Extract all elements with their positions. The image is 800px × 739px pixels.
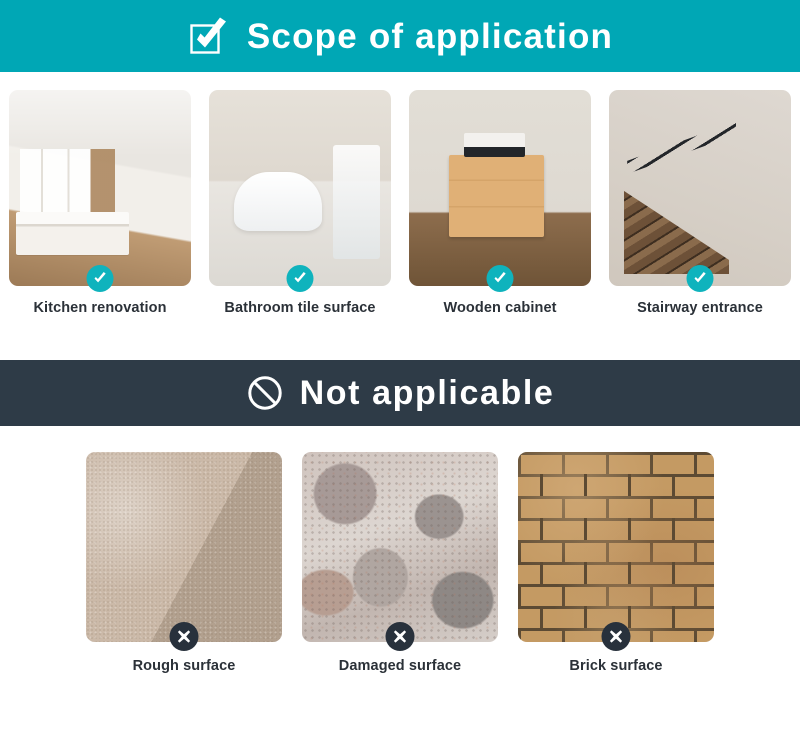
not-applicable-card-brick-label: Brick surface	[569, 658, 662, 674]
check-badge-stairway	[687, 265, 714, 292]
scope-card-stairway-thumb	[609, 90, 791, 286]
checkbox-checked-icon	[187, 14, 231, 58]
scope-banner-title: Scope of application	[247, 19, 613, 54]
scope-card-stairway[interactable]: Stairway entrance	[609, 90, 791, 316]
scope-card-bathroom-thumb	[209, 90, 391, 286]
check-badge-kitchen	[87, 265, 114, 292]
check-icon	[692, 270, 709, 287]
not-applicable-card-rough-thumb	[86, 452, 282, 642]
x-badge-rough	[170, 622, 199, 651]
not-applicable-card-damaged[interactable]: Damaged surface	[302, 452, 498, 674]
not-applicable-card-rough-label: Rough surface	[133, 658, 236, 674]
x-icon	[392, 628, 409, 645]
not-applicable-card-row: Rough surface Damaged surface	[0, 452, 800, 674]
x-icon	[176, 628, 193, 645]
not-applicable-card-brick-thumb	[518, 452, 714, 642]
stairway-photo	[609, 90, 791, 286]
check-badge-bathroom	[287, 265, 314, 292]
not-applicable-card-rough[interactable]: Rough surface	[86, 452, 282, 674]
scope-cards-section: Kitchen renovation Bathroom tile surface	[0, 72, 800, 316]
scope-card-cabinet-thumb	[409, 90, 591, 286]
rough-surface-photo	[86, 452, 282, 642]
check-icon	[92, 270, 109, 287]
scope-card-cabinet-label: Wooden cabinet	[443, 300, 556, 316]
scope-card-kitchen[interactable]: Kitchen renovation	[9, 90, 191, 316]
scope-card-kitchen-thumb	[9, 90, 191, 286]
not-applicable-card-damaged-label: Damaged surface	[339, 658, 461, 674]
not-applicable-banner-title: Not applicable	[300, 376, 555, 410]
brick-tint-overlay	[518, 452, 714, 642]
section-divider	[0, 316, 800, 360]
not-applicable-card-damaged-thumb	[302, 452, 498, 642]
bathroom-photo	[209, 90, 391, 286]
x-badge-damaged	[386, 622, 415, 651]
brick-surface-photo	[518, 452, 714, 642]
check-icon	[292, 270, 309, 287]
x-badge-brick	[602, 622, 631, 651]
x-icon	[608, 628, 625, 645]
scope-card-bathroom-label: Bathroom tile surface	[224, 300, 375, 316]
not-applicable-banner: Not applicable	[0, 360, 800, 426]
scope-card-bathroom[interactable]: Bathroom tile surface	[209, 90, 391, 316]
scope-card-cabinet[interactable]: Wooden cabinet	[409, 90, 591, 316]
damaged-surface-photo	[302, 452, 498, 642]
scope-card-stairway-label: Stairway entrance	[637, 300, 763, 316]
not-applicable-card-brick[interactable]: Brick surface	[518, 452, 714, 674]
prohibition-icon	[246, 374, 284, 412]
kitchen-photo	[9, 90, 191, 286]
scope-banner: Scope of application	[0, 0, 800, 72]
check-badge-cabinet	[487, 265, 514, 292]
scope-card-row: Kitchen renovation Bathroom tile surface	[0, 90, 800, 316]
check-icon	[492, 270, 509, 287]
wooden-cabinet-photo	[409, 90, 591, 286]
not-applicable-cards-section: Rough surface Damaged surface	[0, 426, 800, 674]
scope-card-kitchen-label: Kitchen renovation	[33, 300, 166, 316]
